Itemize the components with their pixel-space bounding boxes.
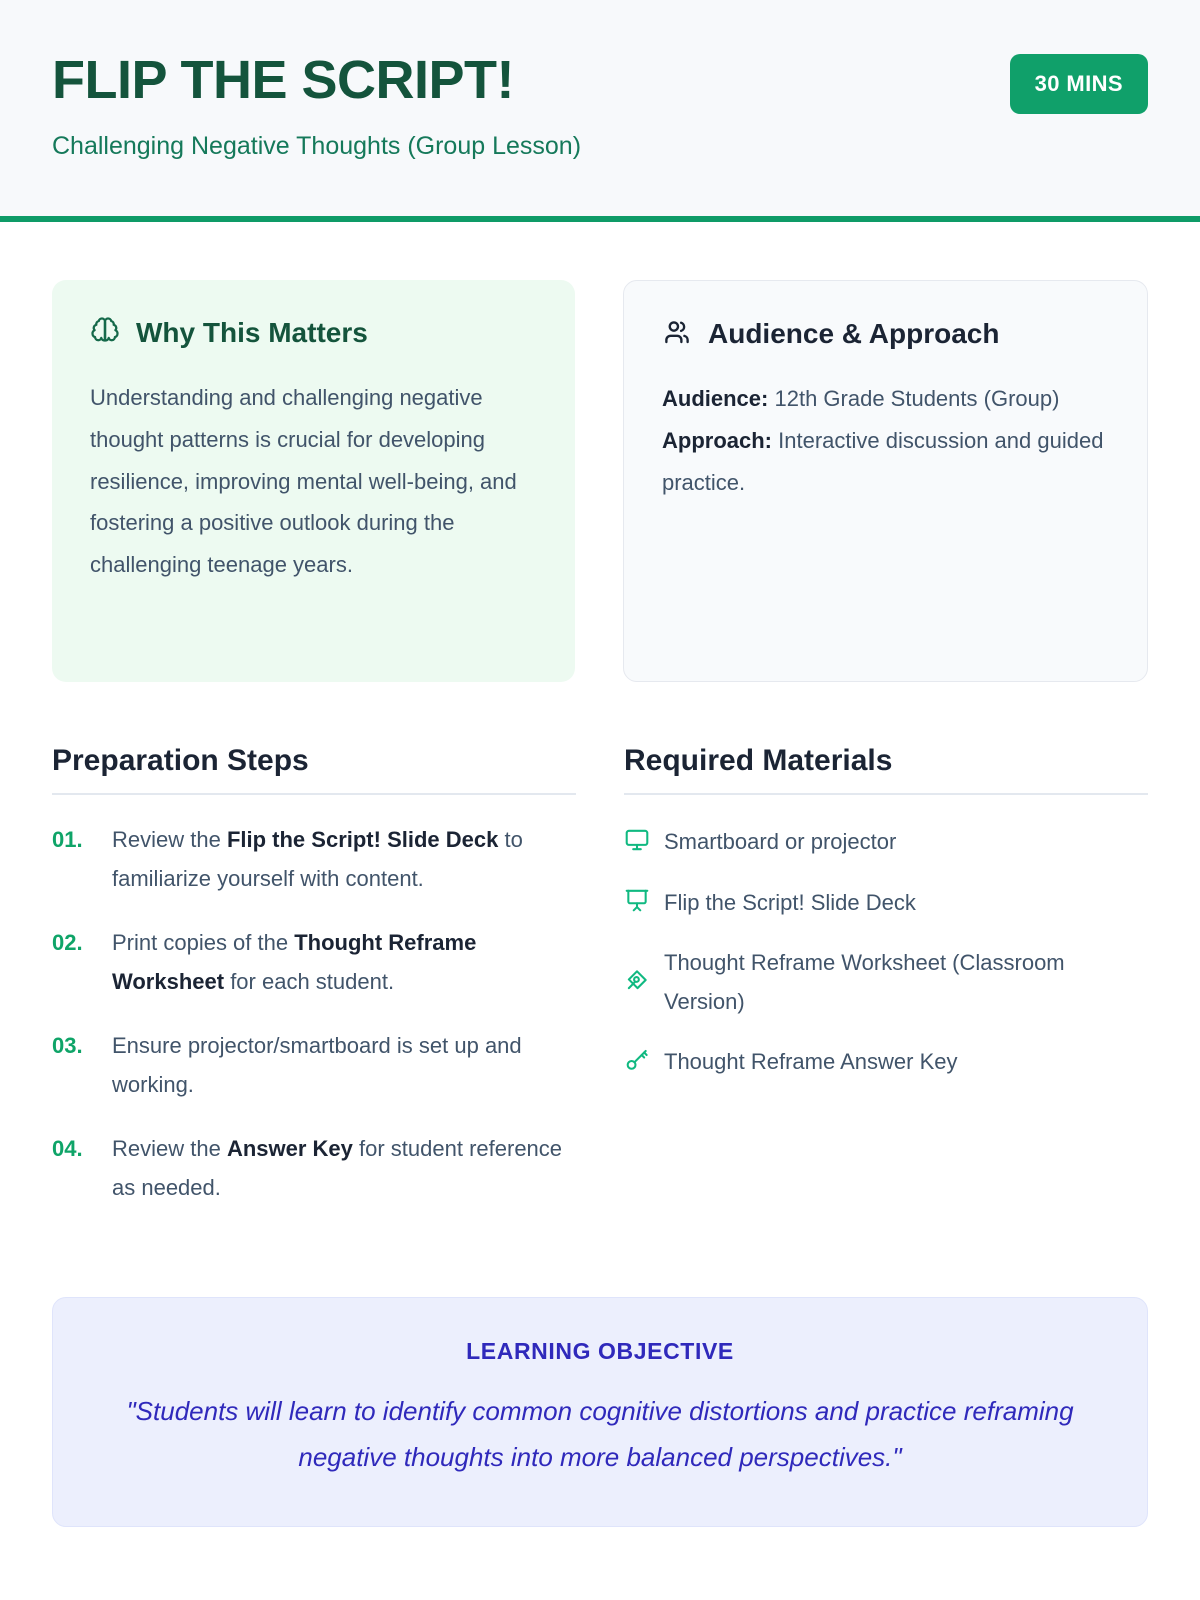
step-number: 03.	[52, 1027, 98, 1104]
preparation-column: Preparation Steps 01. Review the Flip th…	[52, 744, 576, 1233]
audience-row-audience: Audience: 12th Grade Students (Group)	[662, 378, 1109, 420]
step-number: 04.	[52, 1130, 98, 1207]
material-label: Thought Reframe Answer Key	[664, 1043, 957, 1082]
preparation-step: 02. Print copies of the Thought Reframe …	[52, 924, 576, 1001]
material-item: Thought Reframe Answer Key	[624, 1043, 1148, 1082]
audience-approach-card: Audience & Approach Audience: 12th Grade…	[623, 280, 1148, 682]
materials-title: Required Materials	[624, 744, 1148, 795]
material-item: Thought Reframe Worksheet (Classroom Ver…	[624, 944, 1148, 1021]
step-text: Review the Answer Key for student refere…	[112, 1130, 576, 1207]
columns-row: Preparation Steps 01. Review the Flip th…	[52, 744, 1148, 1233]
step-text-pre: Print copies of the	[112, 930, 294, 955]
learning-objective-box: LEARNING OBJECTIVE "Students will learn …	[52, 1297, 1148, 1527]
step-text-bold: Answer Key	[227, 1136, 353, 1161]
audience-card-title: Audience & Approach	[708, 319, 999, 350]
audience-card-header: Audience & Approach	[662, 317, 1109, 352]
presentation-icon	[624, 887, 650, 918]
step-text-bold: Flip the Script! Slide Deck	[227, 827, 498, 852]
preparation-step: 01. Review the Flip the Script! Slide De…	[52, 821, 576, 898]
audience-value: 12th Grade Students (Group)	[774, 386, 1059, 411]
why-this-matters-card: Why This Matters Understanding and chall…	[52, 280, 575, 682]
header-divider	[0, 216, 1200, 222]
materials-list: Smartboard or projector Flip the Script!…	[624, 823, 1148, 1082]
material-item: Smartboard or projector	[624, 823, 1148, 862]
why-card-body: Understanding and challenging negative t…	[90, 377, 537, 586]
step-text-pre: Ensure projector/smartboard is set up an…	[112, 1033, 522, 1097]
key-icon	[624, 1047, 650, 1078]
body-content: Why This Matters Understanding and chall…	[0, 280, 1200, 1233]
material-label: Thought Reframe Worksheet (Classroom Ver…	[664, 944, 1148, 1021]
users-icon	[662, 317, 692, 352]
page-subtitle: Challenging Negative Thoughts (Group Les…	[52, 131, 581, 162]
audience-row-approach: Approach: Interactive discussion and gui…	[662, 420, 1109, 504]
header-row: FLIP THE SCRIPT! Challenging Negative Th…	[52, 48, 1148, 162]
learning-objective-quote: "Students will learn to identify common …	[103, 1389, 1097, 1480]
step-text-pre: Review the	[112, 827, 227, 852]
why-card-title: Why This Matters	[136, 318, 368, 349]
brain-icon	[90, 316, 120, 351]
page-title: FLIP THE SCRIPT!	[52, 52, 581, 109]
info-cards-row: Why This Matters Understanding and chall…	[52, 280, 1148, 682]
step-text: Print copies of the Thought Reframe Work…	[112, 924, 576, 1001]
step-number: 01.	[52, 821, 98, 898]
step-number: 02.	[52, 924, 98, 1001]
learning-objective-label: LEARNING OBJECTIVE	[103, 1338, 1097, 1365]
page-header: FLIP THE SCRIPT! Challenging Negative Th…	[0, 0, 1200, 222]
audience-label: Audience:	[662, 386, 768, 411]
why-card-header: Why This Matters	[90, 316, 537, 351]
preparation-title: Preparation Steps	[52, 744, 576, 795]
approach-label: Approach:	[662, 428, 772, 453]
material-label: Smartboard or projector	[664, 823, 896, 862]
step-text-pre: Review the	[112, 1136, 227, 1161]
duration-badge: 30 MINS	[1010, 54, 1148, 114]
pen-nib-icon	[624, 967, 650, 998]
step-text: Review the Flip the Script! Slide Deck t…	[112, 821, 576, 898]
preparation-step: 03. Ensure projector/smartboard is set u…	[52, 1027, 576, 1104]
step-text: Ensure projector/smartboard is set up an…	[112, 1027, 576, 1104]
material-label: Flip the Script! Slide Deck	[664, 884, 916, 923]
material-item: Flip the Script! Slide Deck	[624, 884, 1148, 923]
preparation-step: 04. Review the Answer Key for student re…	[52, 1130, 576, 1207]
step-text-post: for each student.	[224, 969, 394, 994]
preparation-steps-list: 01. Review the Flip the Script! Slide De…	[52, 821, 576, 1207]
title-block: FLIP THE SCRIPT! Challenging Negative Th…	[52, 48, 581, 162]
monitor-icon	[624, 827, 650, 858]
materials-column: Required Materials Smartboard or project…	[624, 744, 1148, 1233]
